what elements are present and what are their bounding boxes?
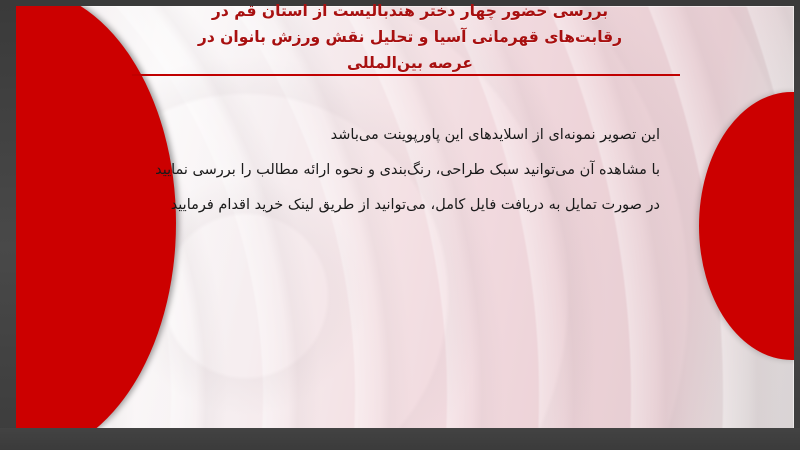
red-ellipse-right-icon [699,92,794,360]
slide-title-line-2: رقابت‌های قهرمانی آسیا و تحلیل نقش ورزش … [130,24,690,50]
slide-title-line-1: بررسی حضور چهار دختر هندبالیست از استان … [130,0,690,24]
title-underline-rule [132,74,680,76]
slide-body-line-2: با مشاهده آن می‌توانید سبک طراحی، رنگ‌بن… [140,153,660,188]
slide-body-text: این تصویر نمونه‌ای از اسلایدهای این پاور… [140,118,660,223]
slide-title: بررسی حضور چهار دختر هندبالیست از استان … [130,0,690,76]
slide-body-line-1: این تصویر نمونه‌ای از اسلایدهای این پاور… [140,118,660,153]
slide-bottom-band [0,428,800,450]
slide-title-line-3: عرصه بین‌المللی [130,50,690,76]
presentation-slide: بررسی حضور چهار دختر هندبالیست از استان … [0,0,800,450]
slide-body-line-3: در صورت تمایل به دریافت فایل کامل، می‌تو… [140,188,660,223]
